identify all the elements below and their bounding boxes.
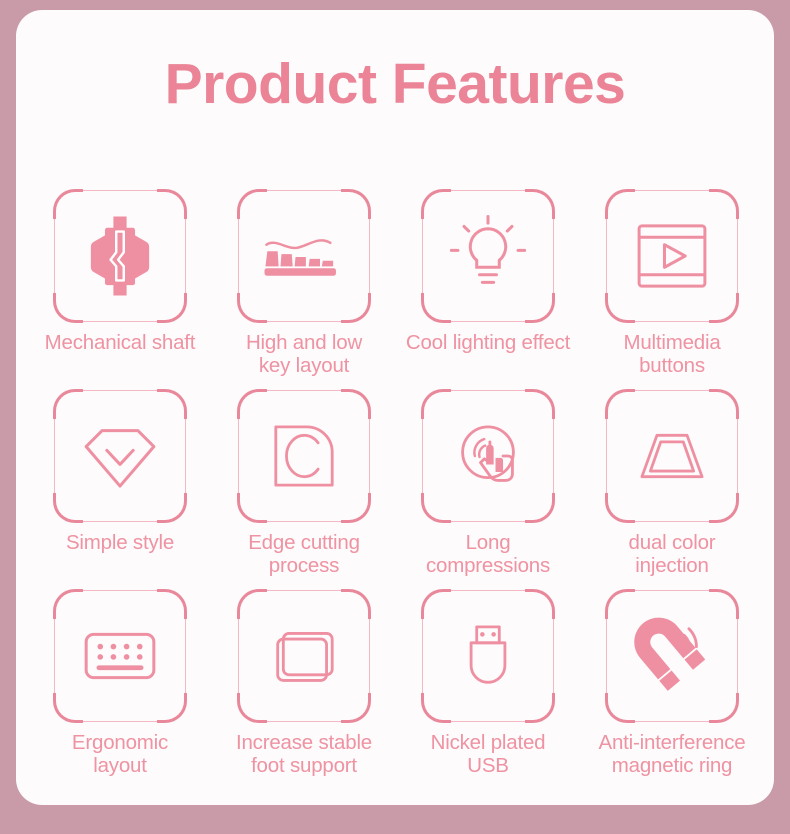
feature-label: Simple style <box>28 532 212 555</box>
poster-root: Product Features Mec <box>0 0 790 834</box>
mechanical-switch-icon <box>73 209 167 303</box>
magnet-icon <box>625 609 719 703</box>
feature-icon-tile <box>422 390 554 522</box>
feature-item-foot-support[interactable]: Increase stablefoot support <box>212 590 396 790</box>
feature-icon-tile <box>54 590 186 722</box>
features-grid: Mechanical shaft <box>28 190 762 790</box>
feature-item-long-compressions[interactable]: Longcompressions <box>396 390 580 590</box>
feature-icon-tile <box>54 390 186 522</box>
lightbulb-icon <box>441 209 535 303</box>
feature-item-mechanical-shaft[interactable]: Mechanical shaft <box>28 190 212 390</box>
feature-label: Edge cuttingprocess <box>212 532 396 578</box>
feature-item-dual-color-injection[interactable]: dual colorinjection <box>580 390 764 590</box>
feature-label: Multimediabuttons <box>580 332 764 378</box>
feature-item-edge-cutting[interactable]: Edge cuttingprocess <box>212 390 396 590</box>
feature-label: Ergonomiclayout <box>28 732 212 778</box>
feature-label: Longcompressions <box>396 532 580 578</box>
feature-icon-tile <box>238 190 370 322</box>
feature-label: Anti-interferencemagnetic ring <box>580 732 764 778</box>
feature-icon-tile <box>606 390 738 522</box>
feature-label: Increase stablefoot support <box>212 732 396 778</box>
feature-item-ergonomic-layout[interactable]: Ergonomiclayout <box>28 590 212 790</box>
keyboard-icon <box>73 609 167 703</box>
feature-item-multimedia[interactable]: Multimediabuttons <box>580 190 764 390</box>
feature-icon-tile <box>422 190 554 322</box>
feature-label: Nickel platedUSB <box>396 732 580 778</box>
feature-icon-tile <box>238 390 370 522</box>
content-card: Product Features Mec <box>16 10 774 805</box>
cut-corner-c-icon <box>257 409 351 503</box>
page-title: Product Features <box>16 56 774 113</box>
feature-icon-tile <box>238 590 370 722</box>
feature-icon-tile <box>54 190 186 322</box>
usb-connector-icon <box>441 609 535 703</box>
feature-icon-tile <box>606 590 738 722</box>
feature-label: Mechanical shaft <box>28 332 212 355</box>
feature-item-lighting[interactable]: Cool lighting effect <box>396 190 580 390</box>
feature-label: dual colorinjection <box>580 532 764 578</box>
diamond-icon <box>73 409 167 503</box>
finger-tap-icon <box>441 409 535 503</box>
feature-label: Cool lighting effect <box>396 332 580 355</box>
feature-icon-tile <box>422 590 554 722</box>
stacked-keycap-icon <box>257 609 351 703</box>
feature-label: High and lowkey layout <box>212 332 396 378</box>
stepped-keys-icon <box>257 209 351 303</box>
media-player-icon <box>625 209 719 303</box>
feature-item-key-layout[interactable]: High and lowkey layout <box>212 190 396 390</box>
feature-item-simple-style[interactable]: Simple style <box>28 390 212 590</box>
feature-item-magnetic-ring[interactable]: Anti-interferencemagnetic ring <box>580 590 764 790</box>
feature-icon-tile <box>606 190 738 322</box>
keycap-trapezoid-icon <box>625 409 719 503</box>
feature-item-nickel-plated-usb[interactable]: Nickel platedUSB <box>396 590 580 790</box>
